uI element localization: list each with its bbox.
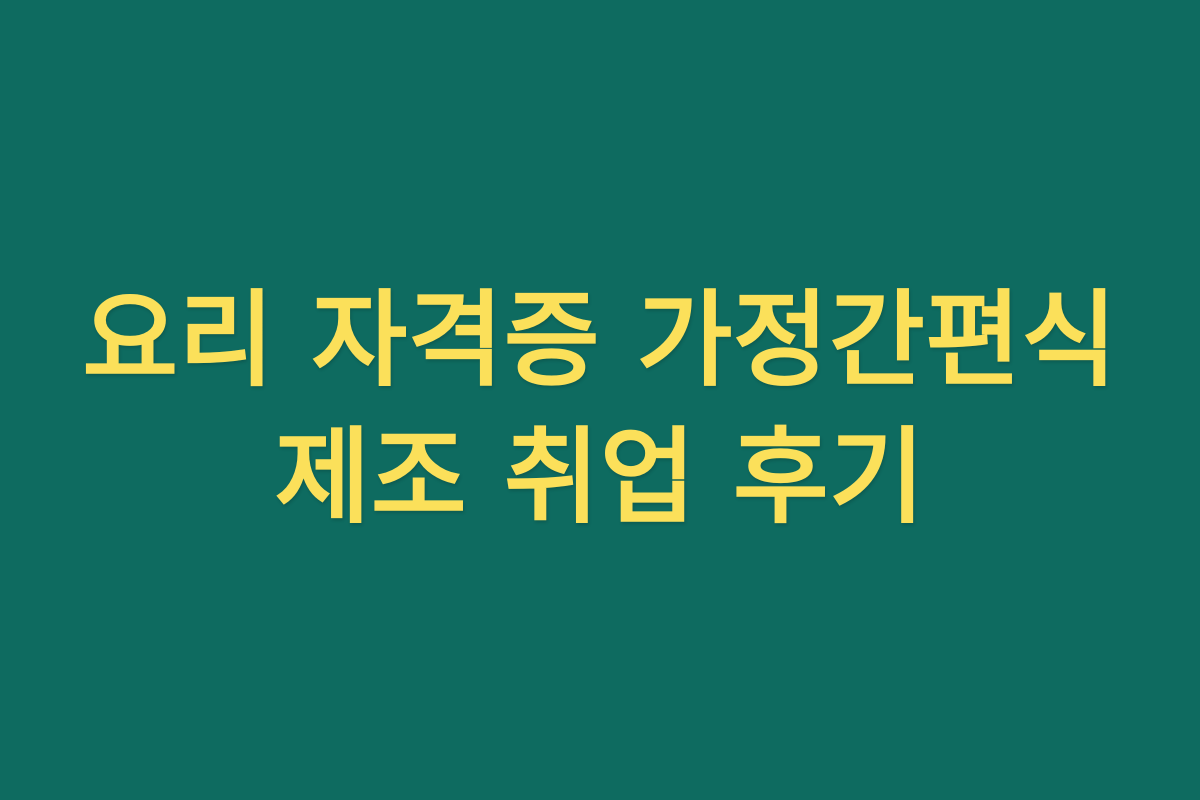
text-banner: 요리 자격증 가정간편식 제조 취업 후기 [0,0,1200,800]
title-line-1: 요리 자격증 가정간편식 [0,272,1200,409]
title-line-2: 제조 취업 후기 [0,409,1200,546]
title-block: 요리 자격증 가정간편식 제조 취업 후기 [0,272,1200,546]
